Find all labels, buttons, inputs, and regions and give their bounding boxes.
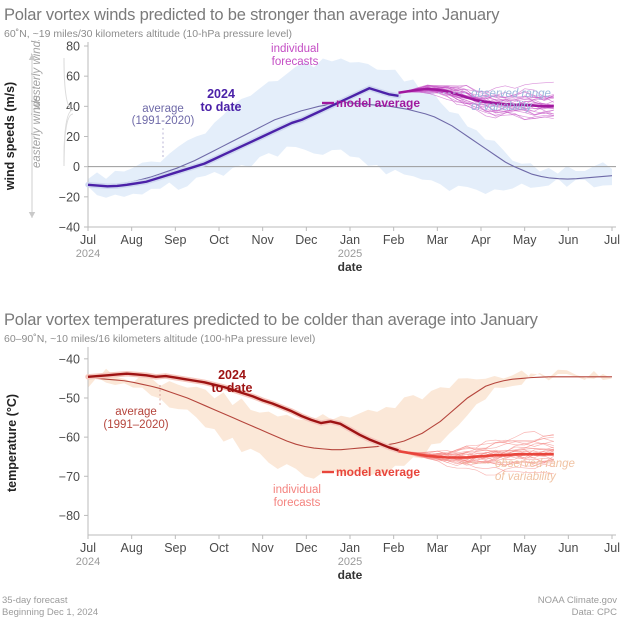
x-tick-label: Aug xyxy=(121,541,143,555)
y-tick-label: 0 xyxy=(73,160,80,174)
footer-source-data: Data: CPC xyxy=(538,607,617,619)
observed-2024-label-line1: 2024 xyxy=(207,87,235,101)
y-tick-label: −80 xyxy=(59,509,80,523)
x-tick-label: Dec xyxy=(295,233,317,247)
y-axis-title: wind speeds (m/s) xyxy=(3,82,17,191)
x-tick-label: Nov xyxy=(252,541,275,555)
y-tick-label: −20 xyxy=(59,190,80,204)
x-tick-label: Jan xyxy=(340,541,360,555)
observed-range-label-line2: of variability xyxy=(471,101,533,113)
observed-2024-label-line2: to date xyxy=(212,381,253,395)
x-tick-label: Nov xyxy=(252,233,275,247)
y-tick-label: −40 xyxy=(59,352,80,366)
x-tick-label: Dec xyxy=(295,541,317,555)
x-tick-label: Jun xyxy=(558,541,578,555)
y-axis-title: temperature (°C) xyxy=(5,394,19,492)
temperatures-chart-subtitle: 60–90˚N, ~10 miles/16 kilometers altitud… xyxy=(0,330,620,345)
x-tick-label: May xyxy=(513,541,537,555)
x-tick-label: Jul xyxy=(604,541,620,555)
x-tick-year: 2024 xyxy=(76,556,100,568)
y-tick-label: 20 xyxy=(66,130,80,144)
average-label-line2: (1991–2020) xyxy=(103,419,168,431)
x-axis-title: date xyxy=(338,260,363,274)
x-tick-label: Sep xyxy=(164,541,186,555)
x-tick-label: Apr xyxy=(471,541,490,555)
y-tick-label: −40 xyxy=(59,221,80,235)
x-tick-label: Jun xyxy=(558,233,578,247)
observed-range-label-line2: of variability xyxy=(495,471,557,483)
footer-left: 35-day forecast Beginning Dec 1, 2024 xyxy=(2,595,98,619)
x-tick-label: Jul xyxy=(604,233,620,247)
footer-right: NOAA Climate.gov Data: CPC xyxy=(538,595,617,619)
x-tick-label: May xyxy=(513,233,537,247)
model-average-annotation: model average xyxy=(322,465,420,479)
y-tick-label: −50 xyxy=(59,391,80,405)
x-axis-title: date xyxy=(338,568,363,582)
individual-forecasts-label-line2: forecasts xyxy=(274,497,321,509)
x-tick-label: Jul xyxy=(80,233,96,247)
x-tick-label: Oct xyxy=(209,541,229,555)
x-tick-label: Feb xyxy=(383,541,405,555)
observed-range-label-line1: observed range xyxy=(471,88,551,100)
model-average-label: model average xyxy=(336,96,420,110)
y-tick-label: 60 xyxy=(66,70,80,84)
temperatures-chart-panel: Polar vortex temperatures predicted to b… xyxy=(0,305,620,590)
observed-2024-label-line1: 2024 xyxy=(218,368,246,382)
winds-chart-title: Polar vortex winds predicted to be stron… xyxy=(0,0,620,25)
x-tick-label: Mar xyxy=(427,233,449,247)
x-tick-year: 2025 xyxy=(338,556,362,568)
footer-forecast-length: 35-day forecast xyxy=(2,595,98,607)
x-tick-label: Jul xyxy=(80,541,96,555)
footer-source-org: NOAA Climate.gov xyxy=(538,595,617,607)
individual-forecasts-annotation: individualforecasts xyxy=(271,43,319,68)
observed-2024-annotation: 2024to date xyxy=(201,87,242,114)
x-tick-label: Aug xyxy=(121,233,143,247)
x-tick-label: Sep xyxy=(164,233,186,247)
x-tick-label: Apr xyxy=(471,233,490,247)
observed-range-label-line1: observed range xyxy=(495,458,575,470)
x-tick-label: Oct xyxy=(209,233,229,247)
average-label-line2: (1991-2020) xyxy=(132,115,195,127)
y-tick-label: −60 xyxy=(59,431,80,445)
winds-chart-svg: −40−20020406080Jul2024AugSepOctNovDecJan… xyxy=(0,40,620,290)
winds-chart-subtitle: 60˚N, ~19 miles/30 kilometers altitude (… xyxy=(0,25,620,40)
x-tick-year: 2024 xyxy=(76,248,100,260)
down-arrow-icon xyxy=(29,212,35,218)
x-tick-label: Feb xyxy=(383,233,405,247)
y-tick-label: 40 xyxy=(66,100,80,114)
x-tick-year: 2025 xyxy=(338,248,362,260)
winds-chart-panel: Polar vortex winds predicted to be stron… xyxy=(0,0,620,300)
temperatures-chart-svg: −80−70−60−50−40Jul2024AugSepOctNovDecJan… xyxy=(0,345,620,590)
model-average-label: model average xyxy=(336,465,420,479)
average-label-line1: average xyxy=(115,406,157,418)
y-tick-label: −70 xyxy=(59,470,80,484)
easterly-winds-label: easterly winds xyxy=(31,95,43,168)
average-label-line1: average xyxy=(142,103,184,115)
temperatures-chart-title: Polar vortex temperatures predicted to b… xyxy=(0,305,620,330)
individual-forecasts-label-line1: individual xyxy=(273,484,321,496)
chart-footer: 35-day forecast Beginning Dec 1, 2024 NO… xyxy=(0,595,620,623)
individual-forecasts-label-line1: individual xyxy=(271,43,319,55)
observed-2024-annotation: 2024to date xyxy=(212,368,253,395)
observed-2024-label-line2: to date xyxy=(201,100,242,114)
x-tick-label: Jan xyxy=(340,233,360,247)
individual-forecasts-annotation: individualforecasts xyxy=(273,484,321,509)
model-average-annotation: model average xyxy=(322,96,420,110)
individual-forecasts-label-line2: forecasts xyxy=(272,56,319,68)
footer-forecast-start: Beginning Dec 1, 2024 xyxy=(2,607,98,619)
y-tick-label: 80 xyxy=(66,40,80,54)
x-tick-label: Mar xyxy=(427,541,449,555)
